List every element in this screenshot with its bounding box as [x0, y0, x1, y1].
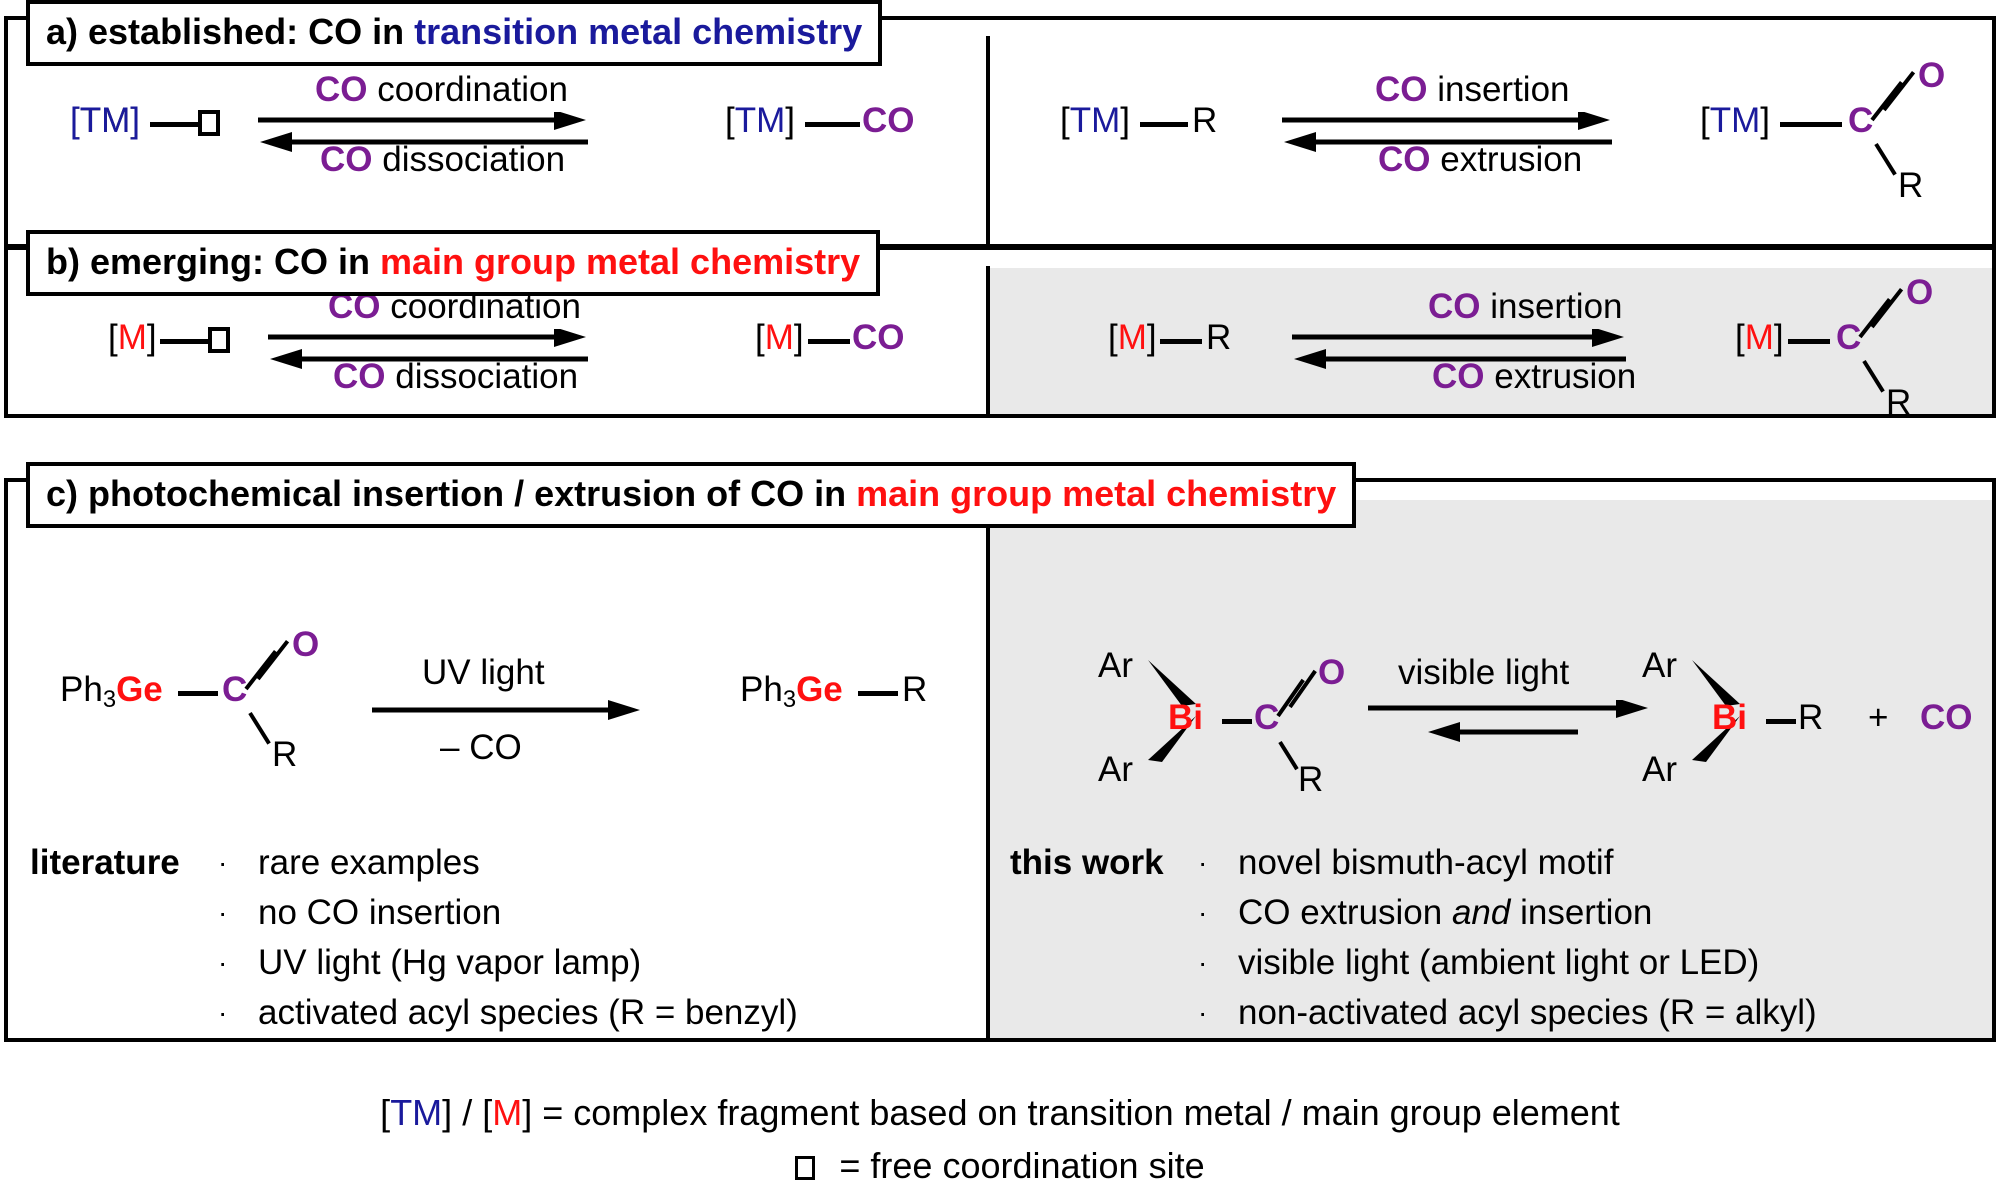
bullet-icon: ·: [1198, 897, 1238, 929]
literature-list-item: ·activated acyl species (R = benzyl): [218, 993, 798, 1033]
panel-a-right-product-c: C: [1848, 103, 1873, 138]
this-work-list-item: ·non-activated acyl species (R = alkyl): [1198, 993, 1817, 1033]
this-work-item-text-emphasis: and: [1452, 893, 1510, 932]
panel-c-divider: [986, 498, 990, 1042]
panel-b-left-product-bond: [808, 339, 850, 344]
panel-c-title-highlight: main group metal chemistry: [856, 473, 1336, 514]
panel-a-left-free-site-square: [198, 110, 220, 136]
panel-c-right-product-bi-r-bond: [1766, 719, 1796, 724]
literature-list-item: ·rare examples: [218, 843, 480, 883]
label-rest: dissociation: [386, 357, 579, 396]
panel-b-right-arrow-top-label: CO insertion: [1428, 289, 1623, 324]
panel-c-right-plus-sign: +: [1868, 700, 1888, 735]
panel-b-title-highlight: main group metal chemistry: [380, 241, 860, 282]
panel-a-right-product-metal: [TM]: [1700, 103, 1770, 138]
this-work-list-item: ·novel bismuth-acyl motif: [1198, 843, 1613, 883]
panel-c-left-arrow-top-label: UV light: [422, 655, 545, 690]
tm-symbol: TM: [80, 101, 131, 140]
tm-symbol: TM: [735, 101, 786, 140]
literature-list-item: ·no CO insertion: [218, 893, 501, 933]
literature-item-text: activated acyl species (R = benzyl): [258, 993, 798, 1032]
panel-c-left-product-bond: [858, 691, 898, 696]
panel-b-left-product-co: CO: [852, 320, 905, 355]
panel-c-left-arrow-bottom-label: – CO: [440, 730, 522, 765]
ph-label: Ph: [60, 670, 103, 709]
panel-a-left-arrow-top-label: CO coordination: [315, 72, 568, 107]
literature-item-text: UV light (Hg vapor lamp): [258, 943, 641, 982]
panel-c-right-reactant-ar-top: Ar: [1098, 648, 1133, 683]
panel-a-divider: [986, 36, 990, 248]
panel-c-title-prefix: c) photochemical insertion / extrusion o…: [46, 473, 856, 514]
literature-item-text: rare examples: [258, 843, 480, 882]
bullet-icon: ·: [218, 997, 258, 1029]
co-accent: CO: [1375, 70, 1428, 109]
panel-a-left-product-co: CO: [862, 103, 915, 138]
panel-a-title: a) established: CO in transition metal c…: [26, 0, 882, 66]
ph-subscript: 3: [783, 686, 796, 713]
panel-b-right-product-bond: [1788, 339, 1830, 344]
this-work-item-text: visible light (ambient light or LED): [1238, 943, 1759, 982]
label-rest: coordination: [368, 70, 568, 109]
co-accent: CO: [1428, 287, 1481, 326]
panel-a-left-reactant-metal-symbol: [TM]: [70, 103, 140, 138]
panel-a-left-bond: [150, 122, 198, 127]
panel-c-right-reactant-r: R: [1298, 762, 1323, 797]
panel-a-title-prefix: a) established: CO in: [46, 11, 414, 52]
panel-b-left-product-metal: [M]: [755, 320, 804, 355]
this-work-item-text-part: insertion: [1510, 893, 1652, 932]
panel-c-right-arrow-top-label: visible light: [1398, 655, 1569, 690]
panel-c-right-product-ar-top: Ar: [1642, 648, 1677, 683]
panel-c-right-product-bi: Bi: [1712, 700, 1747, 735]
ph-label: Ph: [740, 670, 783, 709]
tm-symbol: TM: [1070, 101, 1121, 140]
label-rest: extrusion: [1431, 140, 1583, 179]
panel-b-left-free-site-square: [208, 327, 230, 353]
panel-c-right-bi-c-bond: [1222, 719, 1252, 724]
panel-a-right-reactant-r: R: [1192, 103, 1217, 138]
panel-c-right-equilibrium-arrow: [1368, 700, 1650, 746]
m-symbol: M: [1118, 318, 1147, 357]
footer-separator: /: [452, 1092, 482, 1133]
panel-c-right-product-r: R: [1798, 700, 1823, 735]
this-work-item-text-part: CO extrusion: [1238, 893, 1452, 932]
panel-c-left-product-ph3ge: Ph3Ge: [740, 672, 843, 712]
panel-b-right-bond: [1160, 339, 1202, 344]
co-accent: CO: [315, 70, 368, 109]
co-accent: CO: [1432, 357, 1485, 396]
panel-c-right-product-ar-bottom: Ar: [1642, 752, 1677, 787]
panel-b-title: b) emerging: CO in main group metal chem…: [26, 230, 880, 296]
footer-tm-token: [TM]: [380, 1092, 452, 1133]
co-accent: CO: [333, 357, 386, 396]
panel-b-divider: [986, 266, 990, 418]
panel-a-left-arrow-bottom-label: CO dissociation: [320, 142, 565, 177]
tm-symbol: TM: [1710, 101, 1761, 140]
this-work-item-text: novel bismuth-acyl motif: [1238, 843, 1613, 882]
panel-a-left-product-metal: [TM]: [725, 103, 795, 138]
panel-a-right-reactant-metal: [TM]: [1060, 103, 1130, 138]
ge-symbol: Ge: [796, 670, 843, 709]
tm-symbol: TM: [390, 1092, 442, 1133]
bullet-icon: ·: [1198, 847, 1238, 879]
this-work-list-item: ·CO extrusion and insertion: [1198, 893, 1652, 933]
panel-b-right-reactant-r: R: [1206, 320, 1231, 355]
bullet-icon: ·: [218, 847, 258, 879]
m-symbol: M: [118, 318, 147, 357]
label-rest: insertion: [1481, 287, 1623, 326]
bullet-icon: ·: [218, 897, 258, 929]
panel-c-left-reactant-c: C: [222, 672, 247, 707]
free-coordination-site-square-icon: [795, 1156, 815, 1180]
m-symbol: M: [1745, 318, 1774, 357]
panel-a-title-highlight: transition metal chemistry: [414, 11, 862, 52]
panel-b-right-reactant-metal: [M]: [1108, 320, 1157, 355]
panel-c-right-reactant-o: O: [1318, 655, 1345, 690]
panel-b-right-product-o: O: [1906, 275, 1933, 310]
this-work-list-heading: this work: [1010, 843, 1164, 883]
co-accent: CO: [1378, 140, 1431, 179]
footer-m-token: [M]: [482, 1092, 532, 1133]
ge-symbol: Ge: [116, 670, 163, 709]
panel-b-left-arrow-bottom-label: CO dissociation: [333, 359, 578, 394]
panel-a-right-product-bond: [1780, 122, 1842, 127]
panel-c-left-reactant-r: R: [272, 737, 297, 772]
bullet-icon: ·: [1198, 997, 1238, 1029]
figure-root: a) established: CO in transition metal c…: [0, 0, 2000, 1197]
panel-a-right-product-o: O: [1918, 58, 1945, 93]
panel-a-right-arrow-bottom-label: CO extrusion: [1378, 142, 1582, 177]
label-rest: insertion: [1428, 70, 1570, 109]
panel-c-title: c) photochemical insertion / extrusion o…: [26, 462, 1356, 528]
panel-c-left-ge-c-bond: [178, 691, 218, 696]
panel-c-right-product-co: CO: [1920, 700, 1973, 735]
panel-c-left-reaction-arrow: [372, 700, 642, 724]
panel-c-left-product-r: R: [902, 672, 927, 707]
footer-legend-line-2: = free coordination site: [0, 1145, 2000, 1187]
panel-b-right-product-metal: [M]: [1735, 320, 1784, 355]
panel-b-right-product-c: C: [1836, 320, 1861, 355]
literature-list-item: ·UV light (Hg vapor lamp): [218, 943, 641, 983]
panel-c-right-reactant-bi: Bi: [1168, 700, 1203, 735]
panel-b-left-reactant-metal: [M]: [108, 320, 157, 355]
footer-line2-rest: = free coordination site: [829, 1145, 1204, 1186]
panel-a-right-product-r: R: [1898, 168, 1923, 203]
this-work-list-item: ·visible light (ambient light or LED): [1198, 943, 1759, 983]
panel-c-right-reactant-ar-bottom: Ar: [1098, 752, 1133, 787]
panel-b-left-bond: [160, 339, 208, 344]
panel-b-right-arrow-bottom-label: CO extrusion: [1432, 359, 1636, 394]
panel-a-right-bond: [1140, 122, 1188, 127]
panel-a-left-product-bond: [805, 122, 860, 127]
m-symbol: M: [765, 318, 794, 357]
panel-c-left-reactant-ph3ge: Ph3Ge: [60, 672, 163, 712]
footer-legend-line-1: [TM] / [M] = complex fragment based on t…: [0, 1092, 2000, 1134]
panel-c-left-reactant-o: O: [292, 627, 319, 662]
label-rest: extrusion: [1485, 357, 1637, 396]
bullet-icon: ·: [1198, 947, 1238, 979]
panel-c-right-reactant-c: C: [1254, 700, 1279, 735]
bullet-icon: ·: [218, 947, 258, 979]
literature-list-heading: literature: [30, 843, 180, 883]
co-accent: CO: [320, 140, 373, 179]
panel-a-right-arrow-top-label: CO insertion: [1375, 72, 1570, 107]
m-symbol: M: [492, 1092, 522, 1133]
panel-b-right-product-r: R: [1886, 385, 1911, 420]
ph-subscript: 3: [103, 686, 116, 713]
literature-item-text: no CO insertion: [258, 893, 501, 932]
this-work-item-text: non-activated acyl species (R = alkyl): [1238, 993, 1817, 1032]
label-rest: dissociation: [373, 140, 566, 179]
panel-b-title-prefix: b) emerging: CO in: [46, 241, 380, 282]
footer-line1-rest: = complex fragment based on transition m…: [532, 1092, 1620, 1133]
